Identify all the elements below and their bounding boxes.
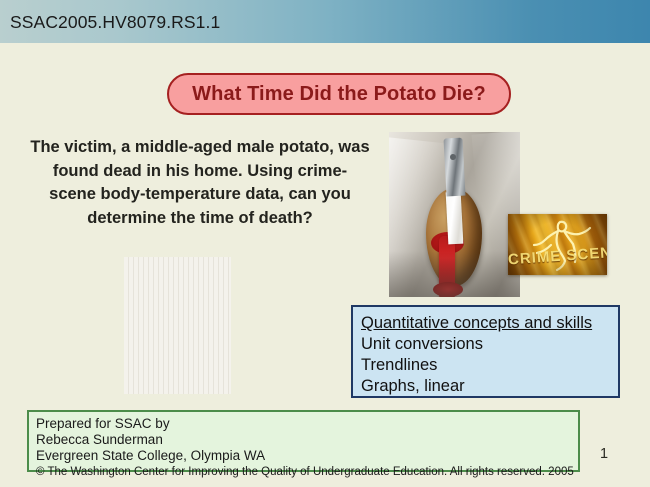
page-number: 1 (600, 446, 608, 462)
knife-handle (443, 138, 465, 197)
module-code-label: SSAC2005.HV8079.RS1.1 (10, 12, 220, 33)
concept-item-1: Trendlines (361, 355, 618, 376)
page-title: What Time Did the Potato Die? (192, 83, 486, 106)
slide-title-pill: What Time Did the Potato Die? (167, 73, 511, 115)
cloth-shadow (389, 251, 520, 297)
concept-item-2: Graphs, linear (361, 376, 618, 397)
quantitative-concepts-box: Quantitative concepts and skills Unit co… (351, 305, 620, 398)
footer-prepared-for: Prepared for SSAC by (36, 416, 578, 432)
potato-stabbed-photo (389, 132, 520, 297)
concept-item-0: Unit conversions (361, 334, 618, 355)
knife-blade (446, 192, 464, 245)
footer-institution: Evergreen State College, Olympia WA (36, 448, 578, 464)
footer-author: Rebecca Sunderman (36, 432, 578, 448)
detective-clipart (124, 257, 231, 394)
attribution-footer-box: Prepared for SSAC by Rebecca Sunderman E… (27, 410, 580, 472)
footer-copyright: © The Washington Center for Improving th… (36, 464, 578, 480)
clipart-stripe-background (124, 257, 231, 394)
header-bar: SSAC2005.HV8079.RS1.1 (0, 0, 650, 43)
intro-paragraph: The victim, a middle-aged male potato, w… (30, 136, 370, 230)
crime-scene-graphic: CRIME SCENE (508, 214, 607, 275)
concepts-heading: Quantitative concepts and skills (361, 313, 618, 334)
